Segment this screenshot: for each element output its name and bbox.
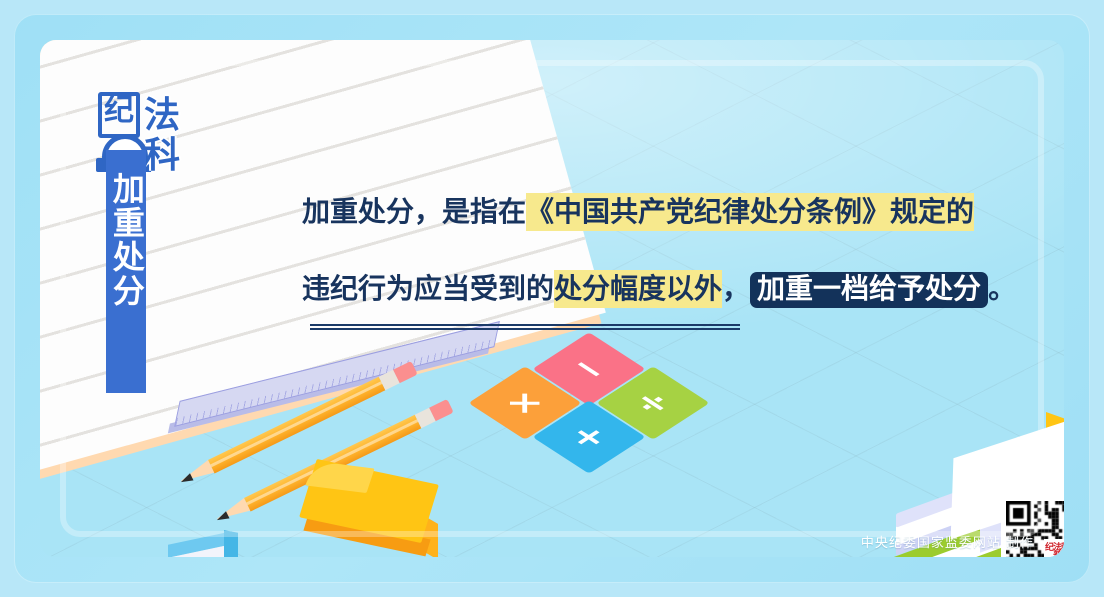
statement-line2-period: 。 (988, 272, 1016, 305)
outer-frame: × − ÷ + (14, 14, 1090, 583)
logo-fa-char: 法 (144, 98, 180, 134)
vertical-title-banner: 加重处分 (106, 150, 146, 393)
statement-line1-plain: 加重处分，是指在 (302, 195, 526, 228)
poster-canvas: × − ÷ + (0, 0, 1104, 597)
double-underline (310, 324, 740, 330)
logo-ke-char: 科 (144, 138, 180, 174)
statement-line1-highlight: 《中国共产党纪律处分条例》规定的 (526, 193, 974, 231)
plus-block: + (556, 404, 648, 496)
statement-block: 加重处分，是指在《中国共产党纪律处分条例》规定的 违纪行为应当受到的处分幅度以外… (302, 198, 1042, 308)
vertical-title-text: 加重处分 (107, 172, 145, 308)
statement-line-2: 违纪行为应当受到的处分幅度以外，加重一档给予处分。 (302, 272, 1042, 308)
eraser-side (224, 530, 238, 557)
statement-line2-highlight: 处分幅度以外 (554, 270, 722, 308)
logo-ji-box: 纪 (98, 92, 140, 138)
statement-line2-comma: ， (722, 272, 750, 305)
qr-center-logo-text: 纪法科普 (1044, 544, 1064, 557)
qr-center-logo: 纪法科普 (1044, 539, 1064, 557)
statement-line-1: 加重处分，是指在《中国共产党纪律处分条例》规定的 (302, 198, 1042, 226)
statement-emphasis-box: 加重一档给予处分 (750, 272, 988, 308)
logo-ji-char: 纪 (102, 92, 136, 130)
inner-panel: × − ÷ + (40, 40, 1064, 557)
statement-line2-plain: 违纪行为应当受到的 (302, 272, 554, 305)
footer-credit: 中央纪委国家监委网站 制作 (861, 532, 1034, 551)
sticky-note-pad (308, 470, 430, 548)
